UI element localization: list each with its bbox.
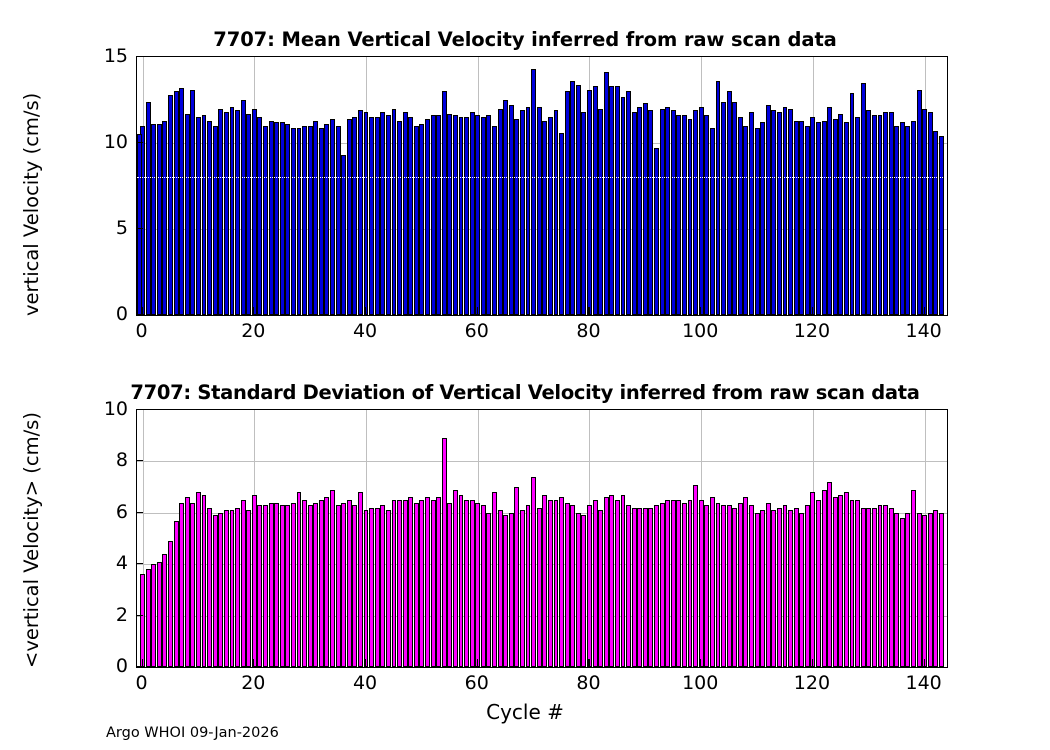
bar: [609, 86, 614, 315]
y-tick-mark: [136, 142, 143, 143]
bar: [503, 515, 508, 667]
bar: [660, 109, 665, 315]
bar: [414, 126, 419, 315]
bar: [682, 115, 687, 315]
bar: [347, 500, 352, 667]
bar: [140, 574, 145, 667]
y-tick-mark: [136, 314, 143, 315]
bar: [408, 117, 413, 315]
bar: [324, 497, 329, 667]
y-tick-label: 15: [76, 45, 128, 67]
bar: [905, 126, 910, 315]
bar: [788, 510, 793, 667]
bar: [688, 119, 693, 315]
y-tick-mark: [136, 512, 143, 513]
bar: [263, 505, 268, 667]
bar: [850, 93, 855, 315]
bar: [341, 503, 346, 667]
bar: [263, 126, 268, 315]
x-tick-label: 100: [682, 672, 718, 694]
bar: [816, 500, 821, 667]
bar: [330, 490, 335, 667]
bar: [665, 107, 670, 315]
bar: [375, 508, 380, 667]
bar: [498, 109, 503, 315]
bar: [162, 554, 167, 667]
bar: [760, 510, 765, 667]
bar: [844, 492, 849, 667]
bar: [157, 124, 162, 315]
bar: [693, 110, 698, 315]
bar: [693, 485, 698, 667]
bar: [425, 119, 430, 315]
x-tick-mark: [253, 659, 254, 666]
bar: [330, 119, 335, 315]
bar: [397, 500, 402, 667]
bar: [403, 500, 408, 667]
bar: [766, 105, 771, 315]
footer-credit-text: Argo WHOI 09-Jan-2026: [106, 725, 279, 741]
y-tick-label: 6: [76, 501, 128, 523]
bar: [676, 115, 681, 315]
bar: [905, 513, 910, 667]
bar: [369, 117, 374, 315]
plot-area-mean-velocity: [136, 56, 948, 316]
bar: [414, 503, 419, 667]
bar: [179, 503, 184, 667]
bar: [291, 503, 296, 667]
x-tick-mark: [588, 307, 589, 314]
bar: [721, 102, 726, 315]
bar: [777, 112, 782, 315]
bar: [358, 492, 363, 667]
bar: [710, 497, 715, 667]
bar: [621, 97, 626, 315]
bar: [347, 119, 352, 315]
bar: [928, 513, 933, 667]
x-tick-label: 80: [576, 672, 600, 694]
chart-title-mean: 7707: Mean Vertical Velocity inferred fr…: [0, 28, 1050, 51]
bar: [447, 503, 452, 667]
bar: [699, 107, 704, 315]
bar: [464, 500, 469, 667]
bar: [855, 117, 860, 315]
bar: [230, 510, 235, 667]
bar: [878, 505, 883, 667]
bar: [654, 505, 659, 667]
bar: [185, 497, 190, 667]
x-tick-mark: [924, 659, 925, 666]
y-tick-mark: [136, 56, 143, 57]
bar: [531, 69, 536, 315]
bar: [626, 91, 631, 315]
bar: [453, 490, 458, 667]
bar: [732, 102, 737, 315]
bar: [486, 513, 491, 667]
x-tick-mark: [700, 307, 701, 314]
bar: [671, 110, 676, 315]
bar: [157, 562, 162, 667]
bar: [643, 103, 648, 315]
bar: [386, 115, 391, 315]
bar: [537, 107, 542, 315]
bar: [308, 126, 313, 315]
bar: [470, 112, 475, 315]
bar: [403, 112, 408, 315]
bar: [447, 114, 452, 315]
y-tick-label: 10: [76, 131, 128, 153]
bar: [297, 128, 302, 315]
bar: [760, 122, 765, 315]
bar: [246, 510, 251, 667]
bar: [280, 505, 285, 667]
bar: [621, 495, 626, 667]
bar: [453, 115, 458, 315]
bar: [308, 505, 313, 667]
bar: [297, 492, 302, 667]
bar: [805, 126, 810, 315]
bar: [207, 508, 212, 667]
x-tick-label: 60: [465, 672, 489, 694]
bar: [174, 91, 179, 315]
bar: [866, 508, 871, 667]
bar: [419, 500, 424, 667]
bar: [593, 86, 598, 315]
x-tick-label: 40: [353, 672, 377, 694]
x-tick-label: 140: [906, 672, 942, 694]
bar: [805, 505, 810, 667]
bar: [900, 122, 905, 315]
bar: [352, 505, 357, 667]
bar: [626, 505, 631, 667]
bar: [386, 510, 391, 667]
y-tick-label: 0: [76, 303, 128, 325]
bar: [810, 117, 815, 315]
bar: [894, 513, 899, 667]
bar: [749, 112, 754, 315]
bar: [486, 115, 491, 315]
bar: [319, 500, 324, 667]
x-tick-mark: [142, 307, 143, 314]
bar: [257, 117, 262, 315]
x-tick-label: 100: [682, 320, 718, 342]
bar: [883, 505, 888, 667]
x-tick-mark: [477, 659, 478, 666]
bar: [900, 518, 905, 667]
bar: [336, 505, 341, 667]
y-tick-mark: [136, 666, 143, 667]
x-tick-label: 80: [576, 320, 600, 342]
x-tick-mark: [924, 307, 925, 314]
bar: [822, 121, 827, 315]
bar: [598, 510, 603, 667]
x-tick-mark: [365, 307, 366, 314]
bar: [933, 131, 938, 315]
bar: [559, 133, 564, 315]
bar: [257, 505, 262, 667]
bar: [727, 91, 732, 315]
bar: [492, 492, 497, 667]
bar: [392, 109, 397, 315]
bar: [654, 148, 659, 315]
bar: [721, 505, 726, 667]
bar: [380, 112, 385, 315]
bar: [676, 500, 681, 667]
bar: [593, 500, 598, 667]
bar: [291, 128, 296, 315]
bar: [716, 503, 721, 667]
bar: [302, 126, 307, 315]
bar: [246, 114, 251, 315]
bar: [576, 85, 581, 315]
bar: [302, 500, 307, 667]
bar: [587, 505, 592, 667]
bar: [704, 115, 709, 315]
bar: [632, 508, 637, 667]
bar: [274, 503, 279, 667]
x-tick-label: 0: [136, 320, 148, 342]
x-tick-label: 40: [353, 320, 377, 342]
bar: [889, 508, 894, 667]
bar: [604, 72, 609, 315]
bar: [732, 508, 737, 667]
x-tick-label: 120: [794, 672, 830, 694]
bar: [771, 510, 776, 667]
bar: [660, 503, 665, 667]
x-tick-mark: [477, 307, 478, 314]
x-tick-mark: [142, 659, 143, 666]
bar: [252, 495, 257, 667]
bar: [749, 505, 754, 667]
bar: [855, 500, 860, 667]
bar: [392, 500, 397, 667]
bar: [872, 508, 877, 667]
bar: [604, 497, 609, 667]
bar: [526, 505, 531, 667]
bar: [241, 500, 246, 667]
bar: [911, 121, 916, 315]
bar: [682, 503, 687, 667]
bar: [319, 128, 324, 315]
bar: [442, 438, 447, 667]
bar: [492, 126, 497, 315]
bar: [224, 112, 229, 315]
bar: [794, 121, 799, 315]
bar: [419, 124, 424, 315]
bar: [570, 81, 575, 315]
bar: [380, 505, 385, 667]
bar: [799, 121, 804, 315]
y-tick-mark: [136, 563, 143, 564]
bar: [241, 100, 246, 315]
bar: [481, 505, 486, 667]
bar: [542, 121, 547, 315]
x-tick-label: 20: [241, 672, 265, 694]
bar: [844, 122, 849, 315]
bar: [548, 117, 553, 315]
bar: [788, 109, 793, 315]
bar: [810, 492, 815, 667]
bar: [179, 88, 184, 315]
bar: [632, 112, 637, 315]
bar: [436, 497, 441, 667]
bar: [224, 510, 229, 667]
bar: [850, 500, 855, 667]
bar: [269, 121, 274, 315]
bar: [755, 513, 760, 667]
bar: [665, 500, 670, 667]
bar: [576, 513, 581, 667]
bar: [481, 117, 486, 315]
bar: [833, 497, 838, 667]
bar: [704, 505, 709, 667]
bar: [889, 112, 894, 315]
y-axis-label-std: <vertical Velocity> (cm/s): [20, 412, 43, 668]
bar: [565, 91, 570, 315]
bar: [609, 495, 614, 667]
bar: [431, 115, 436, 315]
bar: [548, 500, 553, 667]
bar: [464, 117, 469, 315]
bar: [883, 112, 888, 315]
y-tick-label: 4: [76, 552, 128, 574]
bar: [939, 136, 944, 315]
x-tick-mark: [812, 307, 813, 314]
bar: [643, 508, 648, 667]
bar: [146, 102, 151, 315]
bar: [743, 497, 748, 667]
bar: [861, 508, 866, 667]
bar: [637, 107, 642, 315]
bar: [151, 124, 156, 315]
bar: [313, 121, 318, 315]
bar: [285, 505, 290, 667]
bar: [213, 126, 218, 315]
bar: [911, 490, 916, 667]
bar: [375, 117, 380, 315]
bar: [816, 122, 821, 315]
bar: [324, 124, 329, 315]
bar: [185, 114, 190, 315]
bar: [196, 117, 201, 315]
bar: [570, 505, 575, 667]
bar: [917, 513, 922, 667]
y-tick-label: 2: [76, 604, 128, 626]
bar: [196, 492, 201, 667]
bar: [827, 482, 832, 667]
bar: [280, 122, 285, 315]
bar: [710, 128, 715, 315]
bar: [894, 126, 899, 315]
bar: [587, 90, 592, 315]
gridline-horizontal-overlay: [137, 177, 947, 179]
bar: [671, 500, 676, 667]
y-tick-label: 0: [76, 655, 128, 677]
bar: [838, 495, 843, 667]
bar: [137, 134, 142, 315]
bar: [738, 503, 743, 667]
bar: [648, 508, 653, 667]
bar: [190, 503, 195, 667]
x-tick-label: 120: [794, 320, 830, 342]
y-tick-mark: [136, 615, 143, 616]
bar: [459, 117, 464, 315]
bar: [917, 90, 922, 315]
bar: [822, 490, 827, 667]
y-tick-mark: [136, 228, 143, 229]
bar: [252, 109, 257, 315]
bar: [459, 495, 464, 667]
bar: [933, 510, 938, 667]
bar: [514, 119, 519, 315]
bar: [151, 564, 156, 667]
bar: [833, 119, 838, 315]
bar: [526, 107, 531, 315]
bar: [565, 503, 570, 667]
bar: [213, 515, 218, 667]
x-tick-label: 0: [136, 672, 148, 694]
bar: [743, 126, 748, 315]
bar: [922, 109, 927, 315]
bar: [581, 515, 586, 667]
y-tick-mark: [136, 409, 143, 410]
y-tick-label: 8: [76, 449, 128, 471]
bar: [235, 110, 240, 315]
bar: [794, 508, 799, 667]
y-tick-label: 5: [76, 217, 128, 239]
bar: [648, 110, 653, 315]
bar: [716, 81, 721, 315]
bar: [738, 117, 743, 315]
bar: [352, 117, 357, 315]
bar: [615, 500, 620, 667]
bar: [397, 121, 402, 315]
bar: [190, 90, 195, 315]
bar: [442, 91, 447, 315]
y-tick-mark: [136, 460, 143, 461]
bar: [408, 497, 413, 667]
bar: [615, 86, 620, 315]
bar: [514, 487, 519, 667]
bar: [799, 513, 804, 667]
bar: [928, 112, 933, 315]
bar: [146, 569, 151, 667]
bar: [218, 513, 223, 667]
x-tick-label: 20: [241, 320, 265, 342]
bar: [202, 495, 207, 667]
bar: [727, 505, 732, 667]
y-tick-label: 10: [76, 398, 128, 420]
bar: [503, 100, 508, 315]
bar: [274, 122, 279, 315]
bar: [878, 115, 883, 315]
bar: [939, 513, 944, 667]
bar: [470, 500, 475, 667]
bar: [475, 115, 480, 315]
bar: [783, 107, 788, 315]
bar: [755, 128, 760, 315]
bar: [218, 109, 223, 315]
bar: [364, 112, 369, 315]
bar-series-mean-velocity: [137, 57, 947, 315]
bar: [436, 115, 441, 315]
bar: [235, 508, 240, 667]
bar: [520, 510, 525, 667]
bar: [581, 112, 586, 315]
bar: [174, 521, 179, 667]
bar: [699, 500, 704, 667]
x-tick-mark: [812, 659, 813, 666]
